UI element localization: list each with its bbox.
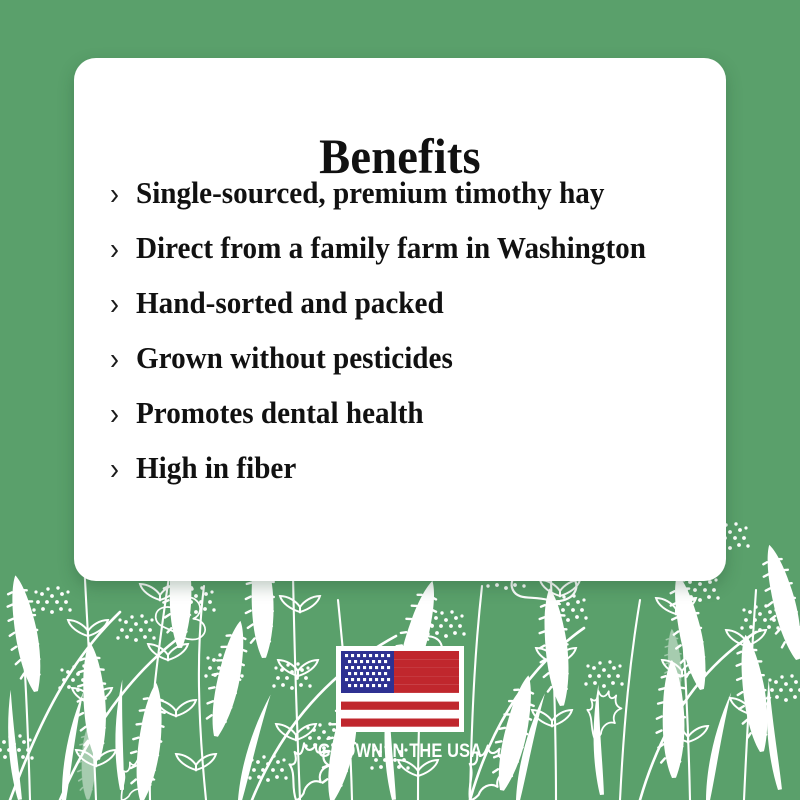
list-item-label: High in fiber bbox=[136, 451, 296, 485]
chevron-right-icon: › bbox=[110, 289, 136, 319]
chevron-right-icon: › bbox=[110, 344, 136, 374]
list-item-label: Single-sourced, premium timothy hay bbox=[136, 176, 604, 210]
list-item: › Single-sourced, premium timothy hay bbox=[110, 176, 710, 231]
list-item: › Hand-sorted and packed bbox=[110, 286, 710, 341]
benefits-card: Benefits › Single-sourced, premium timot… bbox=[74, 58, 726, 581]
list-item: › Grown without pesticides bbox=[110, 341, 710, 396]
list-item-label: Promotes dental health bbox=[136, 396, 424, 430]
list-item: › Direct from a family farm in Washingto… bbox=[110, 231, 710, 286]
grown-in-usa-caption: GROWN IN THE USA bbox=[56, 741, 744, 763]
list-item-label: Hand-sorted and packed bbox=[136, 286, 444, 320]
usa-flag-icon bbox=[336, 646, 464, 732]
list-item-label: Grown without pesticides bbox=[136, 341, 453, 375]
list-item-label: Direct from a family farm in Washington bbox=[136, 231, 646, 265]
chevron-right-icon: › bbox=[110, 454, 136, 484]
product-infographic: Benefits › Single-sourced, premium timot… bbox=[0, 0, 800, 800]
list-item: › High in fiber bbox=[110, 451, 710, 506]
list-item: › Promotes dental health bbox=[110, 396, 710, 451]
chevron-right-icon: › bbox=[110, 179, 136, 209]
usa-flag-wrapper bbox=[336, 646, 464, 732]
grown-in-usa-badge: GROWN IN THE USA bbox=[0, 646, 800, 763]
benefits-list: › Single-sourced, premium timothy hay › … bbox=[110, 176, 710, 506]
chevron-right-icon: › bbox=[110, 399, 136, 429]
chevron-right-icon: › bbox=[110, 234, 136, 264]
